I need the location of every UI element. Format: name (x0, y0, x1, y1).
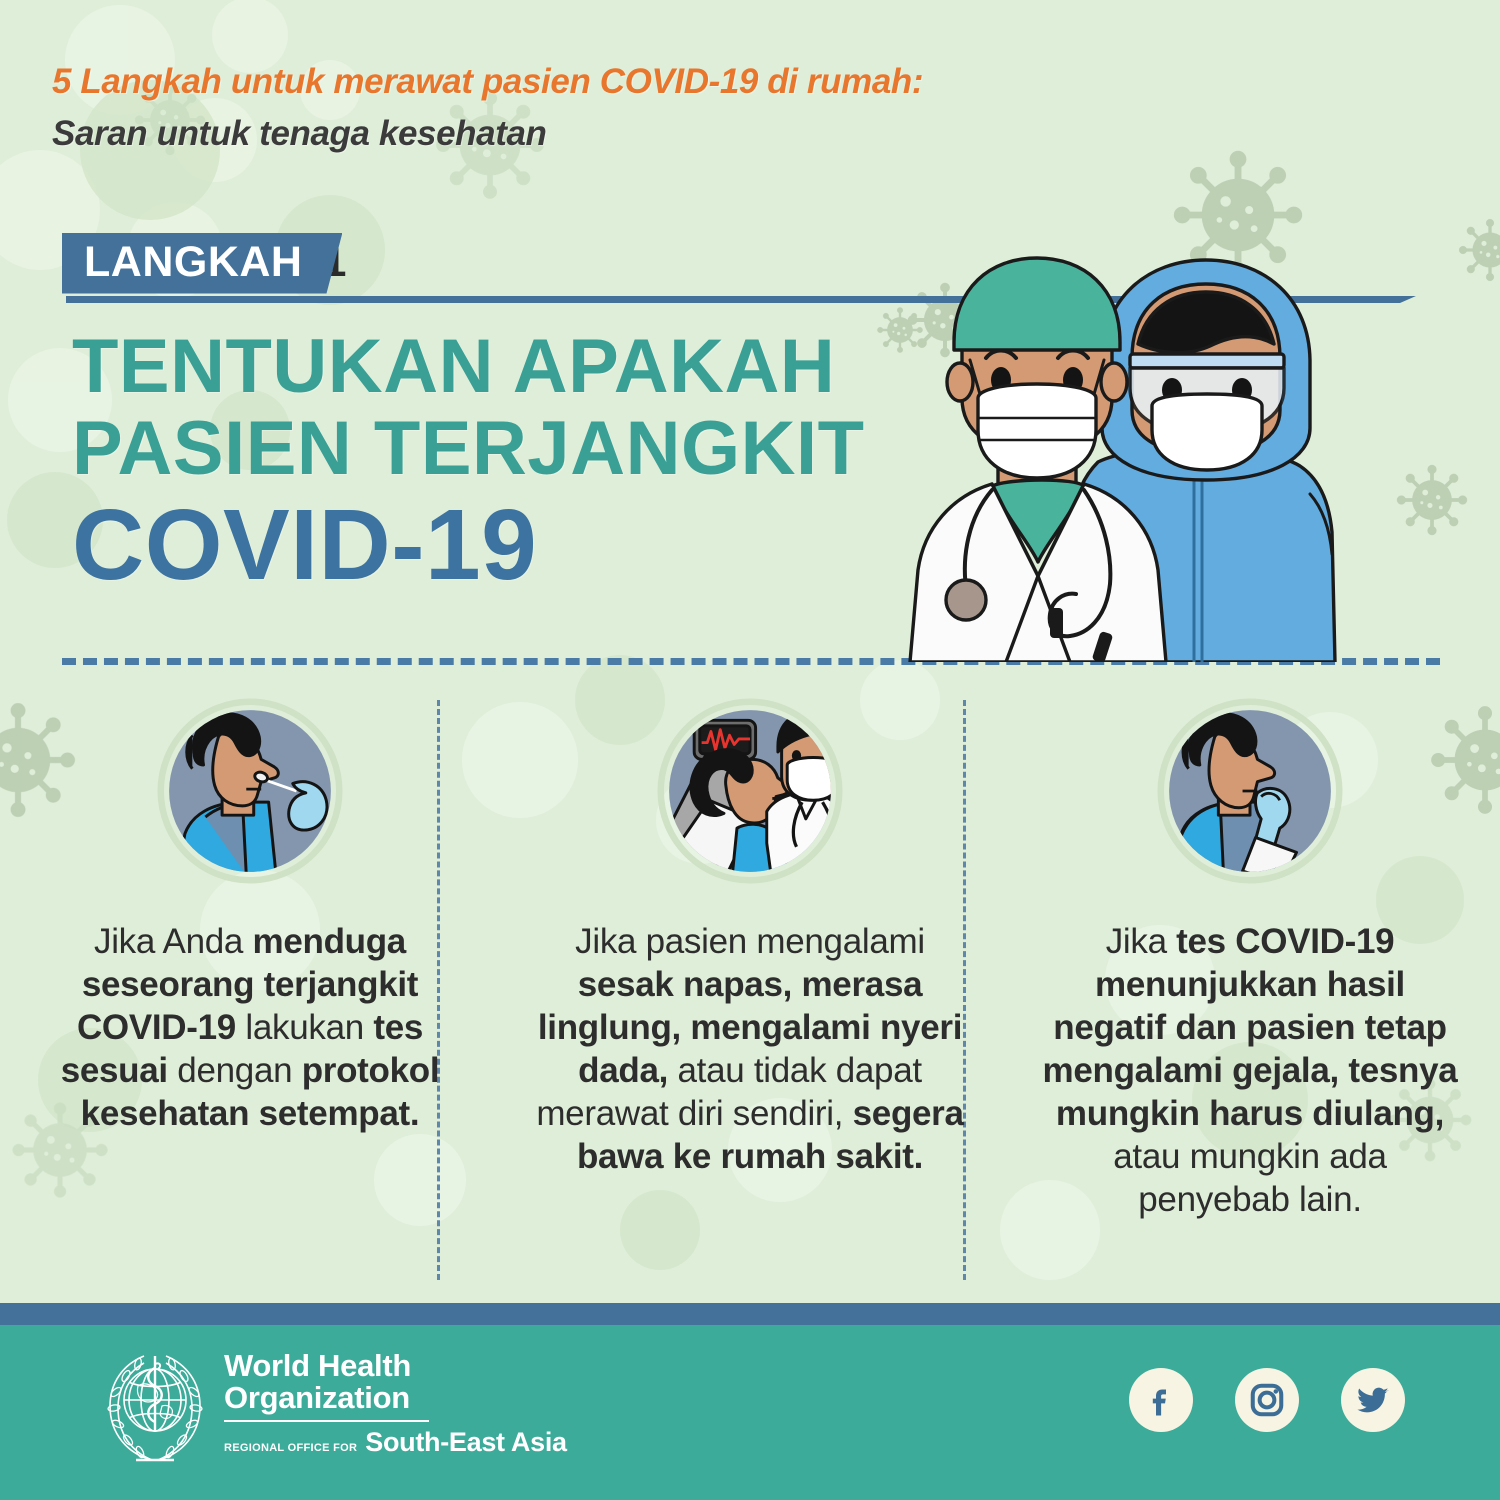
advice-text-2: Jika pasien mengalami sesak napas, meras… (535, 920, 965, 1178)
header: 5 Langkah untuk merawat pasien COVID-19 … (52, 62, 923, 154)
advice-column-3: Jika tes COVID-19 menunjukkan hasil nega… (1000, 698, 1500, 1221)
headline-line-1: TENTUKAN APAKAH (72, 330, 865, 404)
facebook-icon[interactable] (1129, 1368, 1193, 1432)
who-logo-block: World Health Organization REGIONAL OFFIC… (100, 1348, 567, 1466)
headline-line-3: COVID-19 (72, 495, 865, 595)
header-subtitle: Saran untuk tenaga kesehatan (52, 114, 923, 154)
headline-line-2: PASIEN TERJANGKIT (72, 412, 865, 486)
who-region-name: South-East Asia (365, 1427, 567, 1458)
header-title: 5 Langkah untuk merawat pasien COVID-19 … (52, 62, 923, 102)
footer-stripe (0, 1303, 1500, 1325)
advice-column-2: Jika pasien mengalami sesak napas, meras… (500, 698, 1000, 1221)
advice-text-3: Jika tes COVID-19 menunjukkan hasil nega… (1035, 920, 1465, 1221)
who-emblem-icon (100, 1348, 210, 1466)
step-indicator: LANGKAH 1 (62, 232, 346, 294)
social-links (1129, 1368, 1405, 1432)
advice-columns: Jika Anda menduga seseorang terjangkit C… (0, 698, 1500, 1221)
who-line-2: Organization (224, 1382, 567, 1414)
nasal-swab-test-icon (157, 698, 343, 884)
who-wordmark: World Health Organization REGIONAL OFFIC… (224, 1350, 567, 1458)
hospital-patient-monitor-icon (657, 698, 843, 884)
twitter-icon[interactable] (1341, 1368, 1405, 1432)
who-underline (224, 1420, 429, 1422)
who-line-1: World Health (224, 1350, 567, 1382)
health-workers-illustration (880, 232, 1440, 662)
advice-column-1: Jika Anda menduga seseorang terjangkit C… (0, 698, 500, 1221)
who-regional-label: REGIONAL OFFICE FOR (224, 1442, 357, 1454)
advice-text-1: Jika Anda menduga seseorang terjangkit C… (35, 920, 465, 1135)
step-label: LANGKAH (62, 233, 342, 294)
instagram-icon[interactable] (1235, 1368, 1299, 1432)
gloved-hand-swab-icon (1157, 698, 1343, 884)
page-title: TENTUKAN APAKAH PASIEN TERJANGKIT COVID-… (72, 330, 865, 595)
